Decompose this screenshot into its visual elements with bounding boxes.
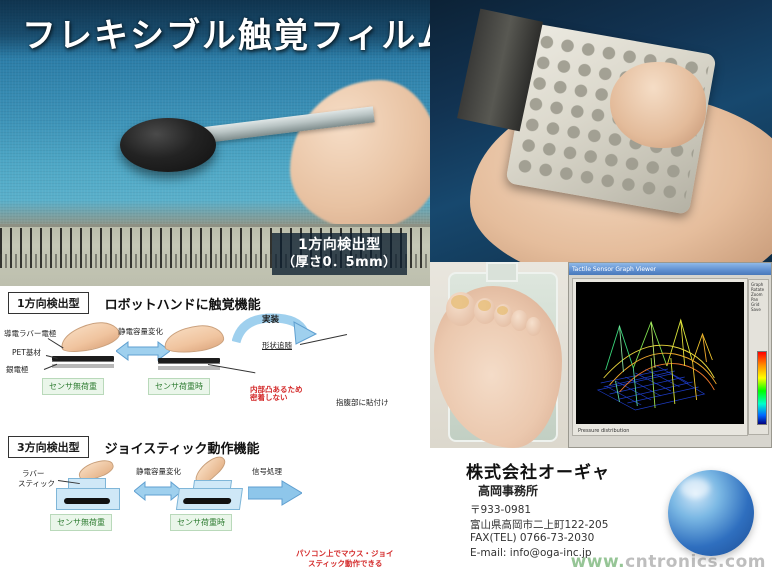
label-mounting: 実装 [262, 316, 279, 325]
label-silver-electrode: 銀電極 [6, 366, 29, 374]
sensor-disc [120, 118, 216, 172]
caption-unidirectional-main: 1方向検出型 [282, 237, 397, 255]
plot-window-titlebar[interactable]: Tactile Sensor Graph Viewer [569, 263, 771, 275]
finger-loaded [163, 323, 225, 355]
finger-no-load [58, 318, 122, 356]
label-warning-not-adhering: 内部凸あるため 密着しない [250, 386, 303, 403]
joystick-loaded [176, 480, 242, 510]
signal-arrow [248, 480, 302, 506]
label-shape-follow: 形状追随 [262, 342, 292, 350]
label-signal-processing: 信号処理 [252, 468, 282, 476]
company-name: 株式会社オーギャ [466, 458, 610, 483]
section1-head: 1方向検出型 ロボットハンドに触覚機能 [8, 292, 261, 314]
label-pc-caption-line2: スティック動作できる [308, 560, 382, 568]
diagram-section-three-axis: 3方向検出型 ジョイスティック動作機能 ラバー スティック センサ無荷重 静電容… [0, 430, 430, 576]
caption-unidirectional: 1方向検出型 （厚さ0．5mm） [272, 233, 407, 275]
capacitance-arrow-2 [134, 480, 182, 502]
watermark-domain: cntronics.com [625, 552, 766, 572]
plot-canvas-3d[interactable] [576, 282, 744, 424]
watermark: www.cntronics.com [571, 552, 766, 572]
plot-software-window[interactable]: Tactile Sensor Graph Viewer [568, 262, 772, 448]
page-title: フレキシブル触覚フィルム [22, 8, 430, 57]
poster-root: フレキシブル触覚フィルム 1方向検出型 （厚さ0．5mm） 面圧分布検出型 （厚… [0, 0, 772, 576]
caption-unidirectional-sub: （厚さ0．5mm） [282, 255, 397, 271]
label-pet-base: PET基材 [12, 349, 41, 357]
label-attach-fingertip: 指腹部に貼付け [336, 399, 389, 407]
thumb [610, 62, 706, 148]
silver-electrode-layer [52, 364, 114, 368]
photo-pressure-distribution: 面圧分布検出型 （厚さ1．2mm） [430, 0, 772, 262]
photo-unidirectional-sensor: フレキシブル触覚フィルム 1方向検出型 （厚さ0．5mm） [0, 0, 430, 286]
js-electrode-no-load [64, 498, 110, 504]
joystick-no-load [56, 478, 118, 508]
toenail-2 [478, 300, 491, 311]
toe-5 [526, 317, 541, 336]
badge-no-load-2: センサ無荷重 [50, 514, 112, 531]
label-rubber-stick-line2: スティック [18, 480, 55, 488]
section1-badge: 1方向検出型 [8, 292, 89, 314]
sensor-plate-tab [486, 262, 518, 282]
toenail-big [451, 295, 469, 309]
company-zip: 〒933-0981 [470, 502, 531, 517]
label-rubber-stick-line1: ラバー [22, 470, 44, 478]
section2-head: 3方向検出型 ジョイスティック動作機能 [8, 436, 260, 458]
label-capacitance-1: 静電容量変化 [118, 328, 163, 336]
badge-loaded-1: センサ荷重時 [148, 378, 210, 395]
plot-window-title: Tactile Sensor Graph Viewer [572, 266, 656, 273]
plot-colorbar [757, 351, 767, 425]
watermark-prefix: www. [571, 552, 626, 572]
badge-loaded-2: センサ荷重時 [170, 514, 232, 531]
ruler-edge [0, 224, 430, 227]
label-pc-caption-line1: パソコン上でマウス・ジョイ [296, 550, 394, 558]
sensor-stack-no-load [52, 356, 114, 369]
js-electrode-loaded [183, 498, 232, 504]
plot-body: Pressure distribution [572, 278, 748, 436]
section2-title: ジョイスティック動作機能 [105, 438, 260, 457]
silver-electrode-layer-loaded [158, 366, 220, 370]
plot-side-labels: Graph Rotate Zoom Pan Grid Save [751, 282, 766, 312]
badge-no-load-1: センサ無荷重 [42, 378, 104, 395]
section2-badge: 3方向検出型 [8, 436, 89, 458]
section1-title: ロボットハンドに触覚機能 [105, 294, 261, 313]
surface-plot-svg [576, 282, 744, 424]
label-rubber-electrode: 導電ラバー電極 [4, 330, 56, 338]
company-logo [668, 470, 754, 556]
company-info-block: 株式会社オーギャ 高岡事務所 〒933-0981 富山県高岡市二上町122-20… [430, 448, 772, 576]
label-capacitance-2: 静電容量変化 [136, 468, 181, 476]
company-fax: FAX(TEL) 0766-73-2030 [470, 532, 594, 544]
company-address: 富山県高岡市二上町122-205 [470, 517, 608, 532]
toenail-3 [497, 306, 508, 315]
plot-caption: Pressure distribution [578, 428, 629, 434]
company-office: 高岡事務所 [478, 482, 538, 499]
photo-foot-on-sensor [430, 262, 568, 448]
